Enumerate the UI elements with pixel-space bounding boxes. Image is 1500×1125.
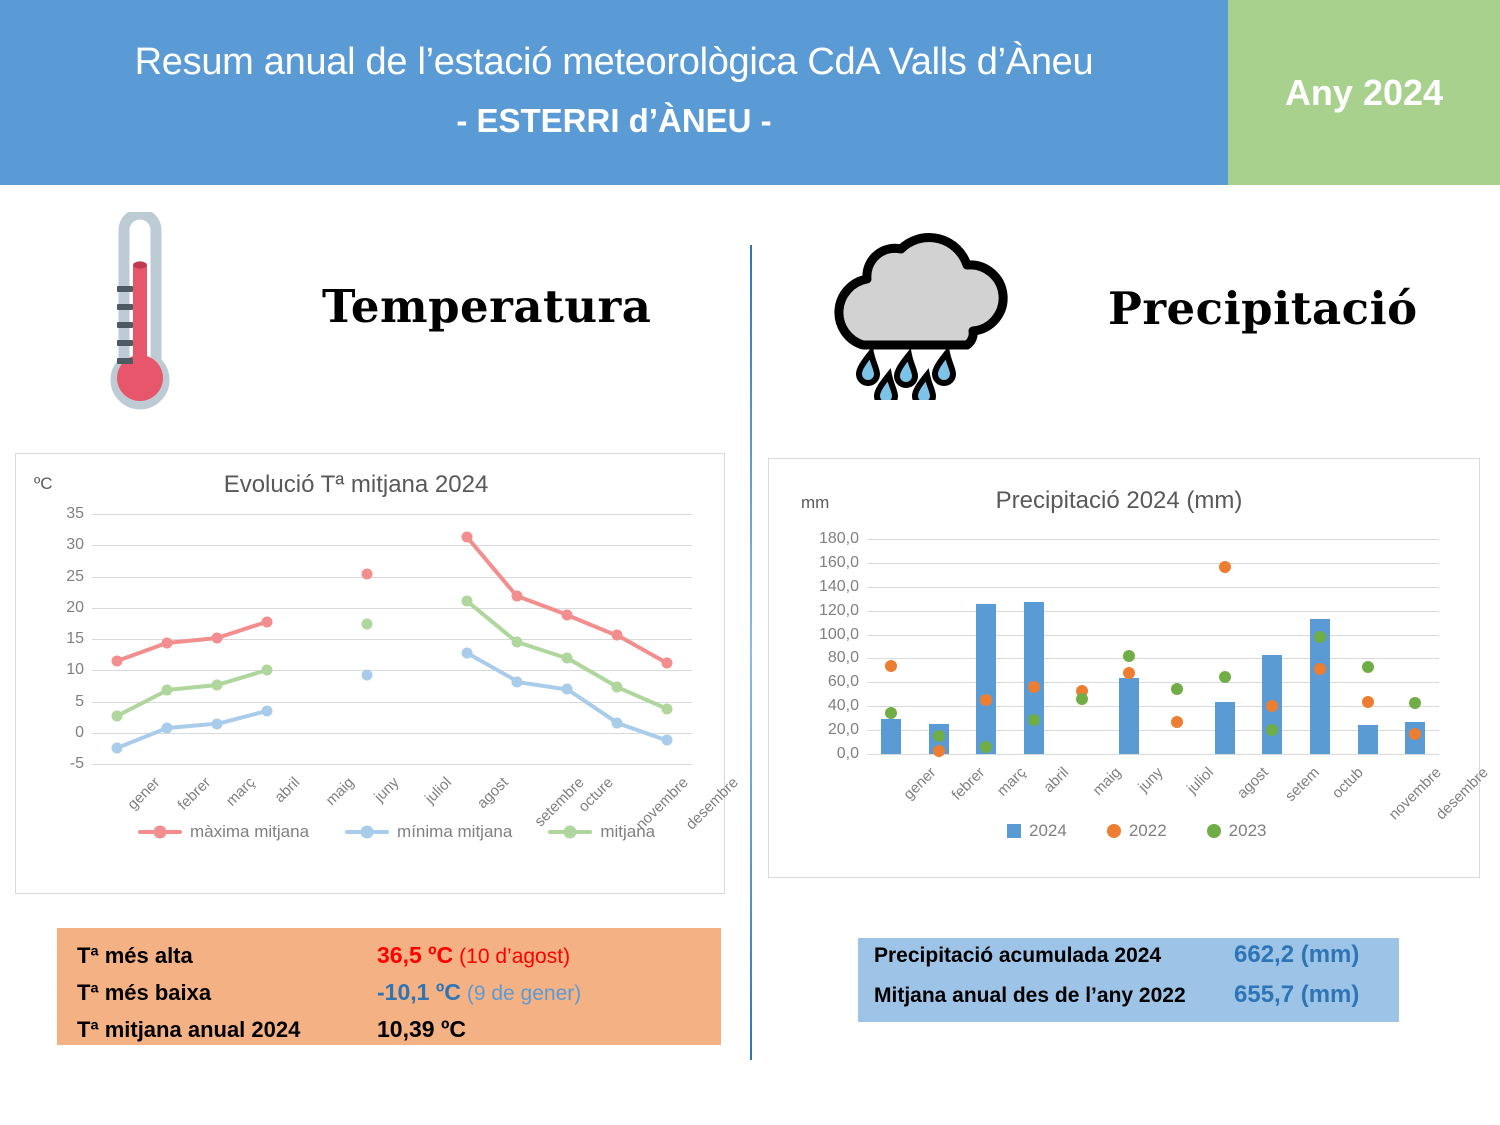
data-point xyxy=(662,735,673,746)
line-segment xyxy=(167,683,217,692)
gridline xyxy=(92,702,692,703)
temperature-plot-area: -505101520253035generfebrermarçabrilmaig… xyxy=(92,514,692,764)
temp-y-unit: ºC xyxy=(34,474,53,494)
data-point xyxy=(512,590,523,601)
data-point xyxy=(112,655,123,666)
data-point xyxy=(212,680,223,691)
line-segment xyxy=(566,613,618,637)
data-point xyxy=(112,710,123,721)
data-point xyxy=(612,682,623,693)
bar xyxy=(1358,725,1378,754)
data-point xyxy=(1123,667,1135,679)
x-axis-tick: juliol xyxy=(422,774,455,807)
data-point xyxy=(980,694,992,706)
legend-label: mitjana xyxy=(600,822,655,842)
y-axis-tick: 140,0 xyxy=(803,578,859,596)
gridline xyxy=(867,754,1439,755)
line-segment xyxy=(516,640,567,660)
x-axis-tick: juny xyxy=(1135,764,1166,795)
bar xyxy=(1215,702,1235,754)
line-segment xyxy=(116,727,168,751)
data-point xyxy=(162,723,173,734)
line-segment xyxy=(466,652,518,684)
y-axis-tick: 20,0 xyxy=(803,721,859,739)
gridline xyxy=(867,611,1439,612)
bar xyxy=(976,604,996,755)
data-point xyxy=(212,632,223,643)
data-point xyxy=(1409,697,1421,709)
gridline xyxy=(867,563,1439,564)
legend-item[interactable]: 2024 xyxy=(1007,821,1067,841)
legend-label: 2022 xyxy=(1129,821,1167,841)
legend-item[interactable]: 2023 xyxy=(1207,821,1267,841)
year-badge: Any 2024 xyxy=(1228,72,1500,114)
x-axis-tick: maig xyxy=(1089,764,1124,799)
data-point xyxy=(162,637,173,648)
gridline xyxy=(92,733,692,734)
gridline xyxy=(92,764,692,765)
y-axis-tick: 120,0 xyxy=(803,602,859,620)
y-axis-tick: 80,0 xyxy=(803,649,859,667)
data-point xyxy=(362,670,373,681)
data-point xyxy=(562,653,573,664)
data-point xyxy=(112,743,123,754)
summary-value: 36,5 ºC xyxy=(377,942,453,969)
data-point xyxy=(662,704,673,715)
line-segment xyxy=(116,688,168,717)
y-axis-tick: -5 xyxy=(40,755,84,773)
x-axis-tick: gener xyxy=(900,764,939,803)
data-point xyxy=(562,609,573,620)
line-segment xyxy=(517,680,568,691)
precipitation-chart-panel: mm Precipitació 2024 (mm) 0,020,040,060,… xyxy=(768,458,1480,878)
legend-label: mínima mitjana xyxy=(397,822,512,842)
data-point xyxy=(262,616,273,627)
legend-dot xyxy=(154,826,167,839)
vertical-divider xyxy=(750,245,752,1060)
data-point xyxy=(885,660,897,672)
summary-value: 655,7 (mm) xyxy=(1234,981,1359,1009)
summary-row: Precipitació acumulada 2024 662,2 (mm) xyxy=(858,941,1399,981)
data-point xyxy=(1266,700,1278,712)
temperature-chart-panel: ºC Evolució Tª mitjana 2024 -50510152025… xyxy=(15,453,725,894)
data-point xyxy=(612,630,623,641)
y-axis-tick: 60,0 xyxy=(803,673,859,691)
data-point xyxy=(1076,693,1088,705)
data-point xyxy=(562,684,573,695)
legend-line-swatch xyxy=(138,830,182,834)
x-axis-tick: febrer xyxy=(174,774,214,814)
summary-label: Tª més alta xyxy=(77,943,377,969)
data-point xyxy=(462,595,473,606)
x-axis-tick: agost xyxy=(1233,764,1271,802)
summary-label: Precipitació acumulada 2024 xyxy=(874,944,1234,968)
y-axis-tick: 100,0 xyxy=(803,626,859,644)
line-segment xyxy=(466,599,519,643)
line-segment xyxy=(216,620,267,640)
gridline xyxy=(867,682,1439,683)
line-segment xyxy=(116,641,167,663)
summary-row: Tª mitjana anual 2024 10,39 ºC xyxy=(57,1016,721,1053)
prec-chart-title: Precipitació 2024 (mm) xyxy=(879,487,1359,515)
line-segment xyxy=(167,722,217,730)
gridline xyxy=(867,658,1439,659)
line-segment xyxy=(167,636,217,645)
summary-label: Mitjana anual des de l’any 2022 xyxy=(874,984,1234,1008)
data-point xyxy=(462,648,473,659)
bar xyxy=(881,719,901,754)
x-axis-tick: agost xyxy=(474,774,512,812)
y-axis-tick: 20 xyxy=(40,599,84,617)
precipitation-legend: 202420222023 xyxy=(1007,821,1266,841)
y-axis-tick: 0,0 xyxy=(803,745,859,763)
data-point xyxy=(1171,716,1183,728)
x-axis-tick: octub xyxy=(1329,764,1367,802)
x-axis-tick: març xyxy=(223,774,259,810)
x-axis-tick: febrer xyxy=(948,764,988,804)
y-axis-tick: 15 xyxy=(40,630,84,648)
line-segment xyxy=(566,687,618,724)
data-point xyxy=(1219,561,1231,573)
y-axis-tick: 30 xyxy=(40,536,84,554)
legend-label: màxima mitjana xyxy=(190,822,309,842)
temp-chart-title: Evolució Tª mitjana 2024 xyxy=(96,471,616,499)
prec-y-unit: mm xyxy=(801,493,829,513)
legend-line-swatch xyxy=(548,830,592,834)
legend-label: 2023 xyxy=(1229,821,1267,841)
legend-dot-swatch xyxy=(1207,824,1221,838)
data-point xyxy=(512,637,523,648)
data-point xyxy=(1219,671,1231,683)
y-axis-tick: 0 xyxy=(40,724,84,742)
gridline xyxy=(92,608,692,609)
summary-value: 662,2 (mm) xyxy=(1234,941,1359,969)
gridline xyxy=(92,545,692,546)
summary-row: Tª més baixa -10,1 ºC (9 de gener) xyxy=(57,979,721,1016)
summary-label: Tª mitjana anual 2024 xyxy=(77,1017,377,1043)
x-axis-tick: març xyxy=(994,764,1030,800)
line-segment xyxy=(616,685,668,711)
legend-dot-swatch xyxy=(1107,824,1121,838)
line-segment xyxy=(516,594,567,616)
data-point xyxy=(512,676,523,687)
x-axis-tick: gener xyxy=(124,774,163,813)
gridline xyxy=(92,577,692,578)
summary-label: Tª més baixa xyxy=(77,980,377,1006)
gridline xyxy=(867,539,1439,540)
legend-item[interactable]: mitjana xyxy=(548,822,655,842)
gridline xyxy=(867,730,1439,731)
gridline xyxy=(92,514,692,515)
temperature-section-title: Temperatura xyxy=(322,280,651,333)
legend-label: 2024 xyxy=(1029,821,1067,841)
y-axis-tick: 180,0 xyxy=(803,530,859,548)
x-axis-tick: setem xyxy=(1282,764,1323,805)
data-point xyxy=(1171,683,1183,695)
legend-item[interactable]: 2022 xyxy=(1107,821,1167,841)
data-point xyxy=(1028,681,1040,693)
x-axis-tick: maig xyxy=(323,774,358,809)
legend-item[interactable]: mínima mitjana xyxy=(345,822,512,842)
y-axis-tick: 35 xyxy=(40,505,84,523)
gridline xyxy=(867,587,1439,588)
x-axis-tick: juliol xyxy=(1184,764,1217,797)
header-blue-band xyxy=(0,0,1228,185)
line-segment xyxy=(216,709,267,726)
legend-line-swatch xyxy=(345,830,389,834)
precipitation-section-title: Precipitació xyxy=(1108,282,1418,335)
temperature-legend: màxima mitjanamínima mitjanamitjana xyxy=(138,822,655,842)
data-point xyxy=(462,531,473,542)
data-point xyxy=(980,741,992,753)
summary-value: -10,1 ºC xyxy=(377,979,461,1006)
data-point xyxy=(1266,724,1278,736)
data-point xyxy=(362,619,373,630)
data-point xyxy=(1123,650,1135,662)
gridline xyxy=(92,670,692,671)
x-axis-tick: abril xyxy=(271,774,303,806)
y-axis-tick: 160,0 xyxy=(803,554,859,572)
data-point xyxy=(262,665,273,676)
precipitation-plot-area: 0,020,040,060,080,0100,0120,0140,0160,01… xyxy=(867,539,1439,754)
summary-row: Tª més alta 36,5 ºC (10 d’agost) xyxy=(57,942,721,979)
y-axis-tick: 25 xyxy=(40,568,84,586)
data-point xyxy=(1362,661,1374,673)
data-point xyxy=(662,658,673,669)
bar xyxy=(1024,602,1044,754)
data-point xyxy=(933,745,945,757)
legend-square-swatch xyxy=(1007,824,1021,838)
summary-row: Mitjana anual des de l’any 2022 655,7 (m… xyxy=(858,981,1399,1021)
data-point xyxy=(1314,663,1326,675)
data-point xyxy=(362,569,373,580)
line-segment xyxy=(566,657,618,689)
y-axis-tick: 10 xyxy=(40,661,84,679)
legend-item[interactable]: màxima mitjana xyxy=(138,822,309,842)
x-axis-tick: abril xyxy=(1040,764,1072,796)
data-point xyxy=(1314,631,1326,643)
temperature-summary-box: Tª més alta 36,5 ºC (10 d’agost) Tª més … xyxy=(57,928,721,1045)
data-point xyxy=(262,705,273,716)
data-point xyxy=(885,707,897,719)
line-segment xyxy=(616,721,667,742)
bar xyxy=(1119,678,1139,754)
data-point xyxy=(1362,696,1374,708)
gridline xyxy=(867,635,1439,636)
x-axis-tick: juny xyxy=(371,774,402,805)
page-subtitle: - ESTERRI d’ÀNEU - xyxy=(0,101,1228,141)
data-point xyxy=(1028,714,1040,726)
thermometer-icon xyxy=(95,212,185,427)
data-point xyxy=(612,717,623,728)
page-title: Resum anual de l’estació meteorològica C… xyxy=(0,38,1228,87)
data-point xyxy=(933,730,945,742)
legend-dot xyxy=(361,826,374,839)
rain-cloud-icon xyxy=(823,225,1023,400)
summary-note: (10 d’agost) xyxy=(459,945,570,969)
gridline xyxy=(867,706,1439,707)
summary-value: 10,39 ºC xyxy=(377,1016,466,1043)
y-axis-tick: 5 xyxy=(40,693,84,711)
infographic-page: Resum anual de l’estació meteorològica C… xyxy=(0,0,1500,1125)
summary-note: (9 de gener) xyxy=(467,982,581,1006)
data-point xyxy=(1409,728,1421,740)
precipitation-summary-box: Precipitació acumulada 2024 662,2 (mm) M… xyxy=(858,938,1399,1022)
x-axis-tick: desembre xyxy=(683,774,742,833)
data-point xyxy=(212,719,223,730)
data-point xyxy=(162,685,173,696)
header-banner: Resum anual de l’estació meteorològica C… xyxy=(0,0,1500,185)
legend-dot xyxy=(564,826,577,839)
y-axis-tick: 40,0 xyxy=(803,697,859,715)
